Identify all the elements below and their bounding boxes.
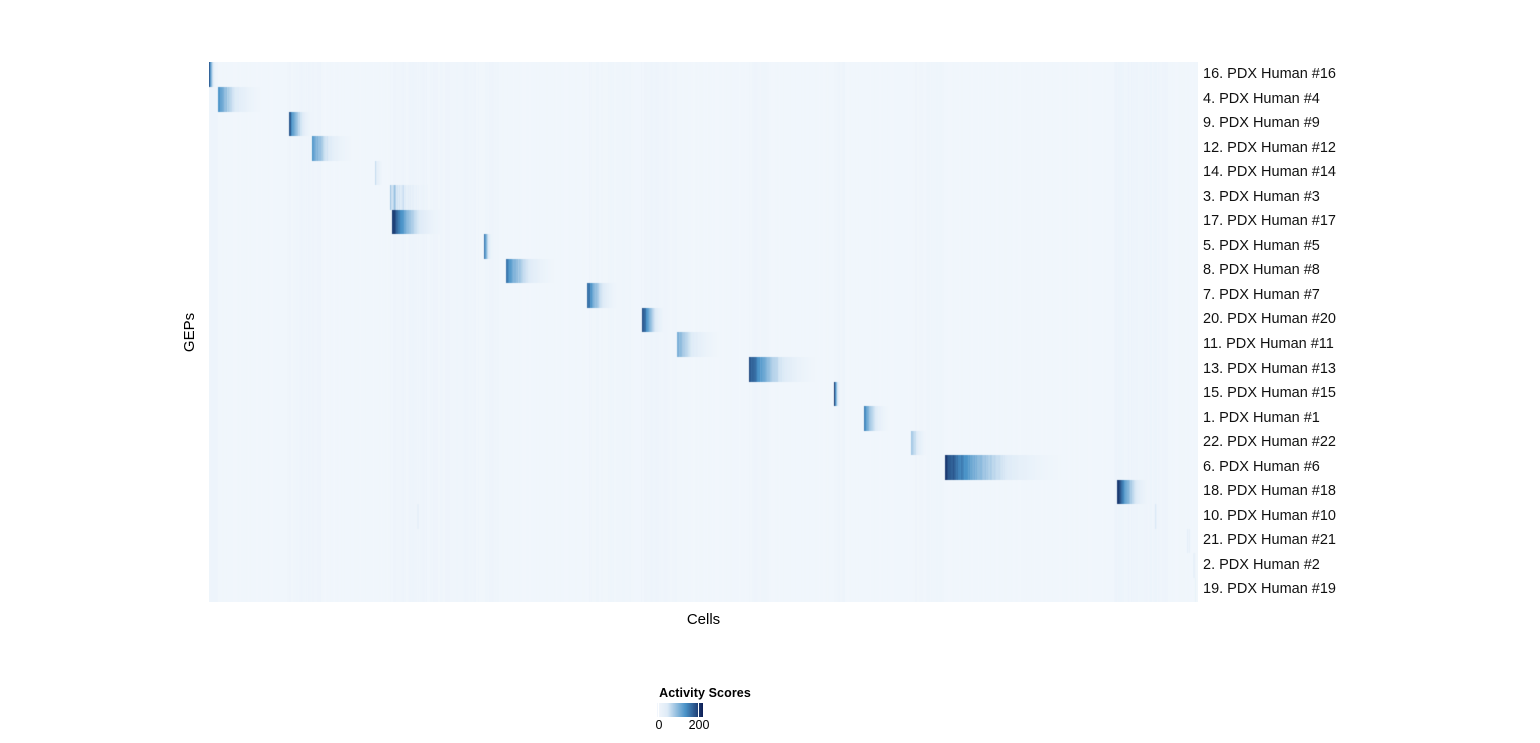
row-label: 18. PDX Human #18: [1203, 479, 1336, 504]
row-label: 6. PDX Human #6: [1203, 455, 1320, 480]
y-axis-title-label: GEPs: [182, 312, 199, 351]
colorbar-legend: Activity Scores 0 200: [600, 686, 810, 738]
row-label: 3. PDX Human #3: [1203, 185, 1320, 210]
colorbar-tick-label-200: 200: [689, 718, 710, 732]
row-label: 11. PDX Human #11: [1203, 332, 1334, 357]
colorbar-tick-0: [658, 703, 659, 717]
heatmap-plot-area: [209, 62, 1198, 602]
row-label: 13. PDX Human #13: [1203, 357, 1336, 382]
colorbar-tick-label-0: 0: [656, 718, 663, 732]
row-label: 7. PDX Human #7: [1203, 283, 1320, 308]
y-axis-title: GEPs: [173, 287, 207, 377]
row-label: 12. PDX Human #12: [1203, 136, 1336, 161]
row-label: 1. PDX Human #1: [1203, 406, 1320, 431]
colorbar-gradient: [657, 703, 703, 717]
row-label: 2. PDX Human #2: [1203, 553, 1320, 578]
colorbar-title: Activity Scores: [600, 686, 810, 700]
row-label: 8. PDX Human #8: [1203, 258, 1320, 283]
row-label: 20. PDX Human #20: [1203, 307, 1336, 332]
row-label: 5. PDX Human #5: [1203, 234, 1320, 259]
row-label: 14. PDX Human #14: [1203, 160, 1336, 185]
colorbar-bar-wrap: 0 200: [657, 703, 703, 717]
row-label: 10. PDX Human #10: [1203, 504, 1336, 529]
row-label: 21. PDX Human #21: [1203, 528, 1336, 553]
row-label: 17. PDX Human #17: [1203, 209, 1336, 234]
heatmap-figure: GEPs 16. PDX Human #164. PDX Human #49. …: [0, 0, 1540, 743]
row-label: 9. PDX Human #9: [1203, 111, 1320, 136]
row-label: 15. PDX Human #15: [1203, 381, 1336, 406]
heatmap-canvas: [209, 62, 1198, 602]
row-label: 19. PDX Human #19: [1203, 577, 1336, 602]
row-label: 22. PDX Human #22: [1203, 430, 1336, 455]
colorbar-tick-200: [698, 703, 699, 717]
x-axis-title: Cells: [209, 611, 1198, 628]
row-label: 16. PDX Human #16: [1203, 62, 1336, 87]
row-label: 4. PDX Human #4: [1203, 87, 1320, 112]
heatmap-row-labels: 16. PDX Human #164. PDX Human #49. PDX H…: [1203, 62, 1533, 602]
